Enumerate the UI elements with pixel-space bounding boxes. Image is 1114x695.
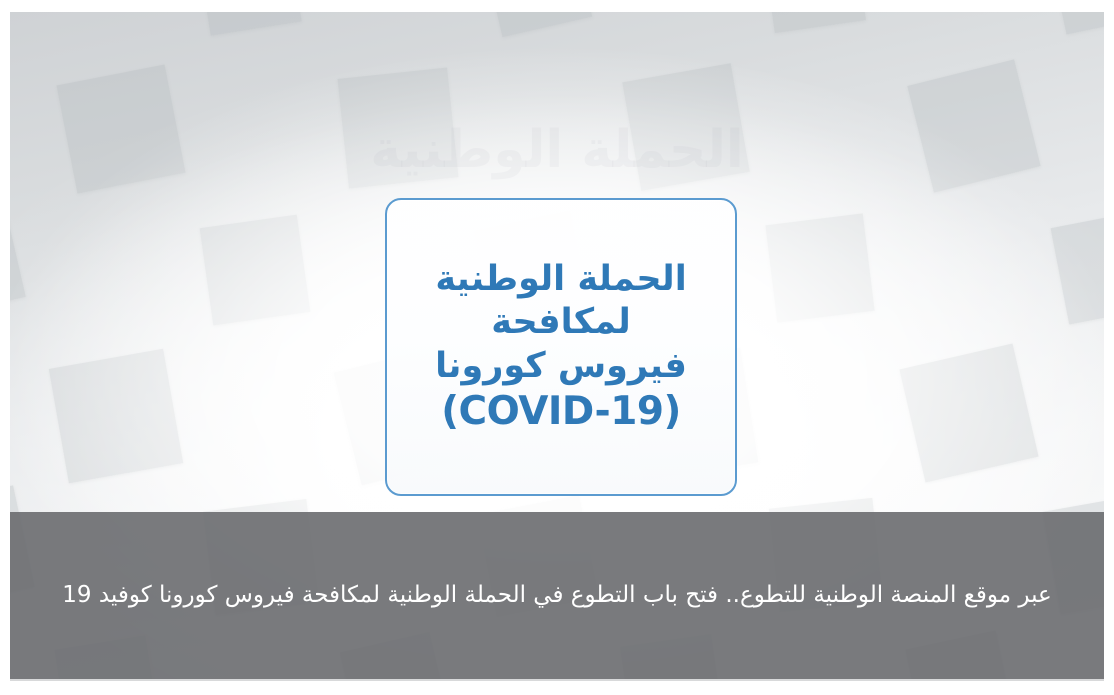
logo-line-1: الحملة الوطنية: [435, 259, 686, 300]
campaign-logo-card: الحملة الوطنية لمكافحة فيروس كورونا (COV…: [385, 198, 737, 496]
news-banner: الحملة الوطنية الحملة الوطنية لمكافحة في…: [10, 12, 1104, 681]
logo-line-4-covid19: (COVID-19): [441, 389, 681, 435]
screenshot-root: الحملة الوطنية الحملة الوطنية لمكافحة في…: [0, 0, 1114, 695]
logo-line-2: لمكافحة: [491, 302, 630, 343]
bottom-divider: [10, 679, 1104, 681]
logo-line-3: فيروس كورونا: [435, 346, 687, 387]
caption-bar: عبر موقع المنصة الوطنية للتطوع.. فتح باب…: [10, 512, 1104, 679]
caption-headline: عبر موقع المنصة الوطنية للتطوع.. فتح باب…: [62, 577, 1052, 614]
